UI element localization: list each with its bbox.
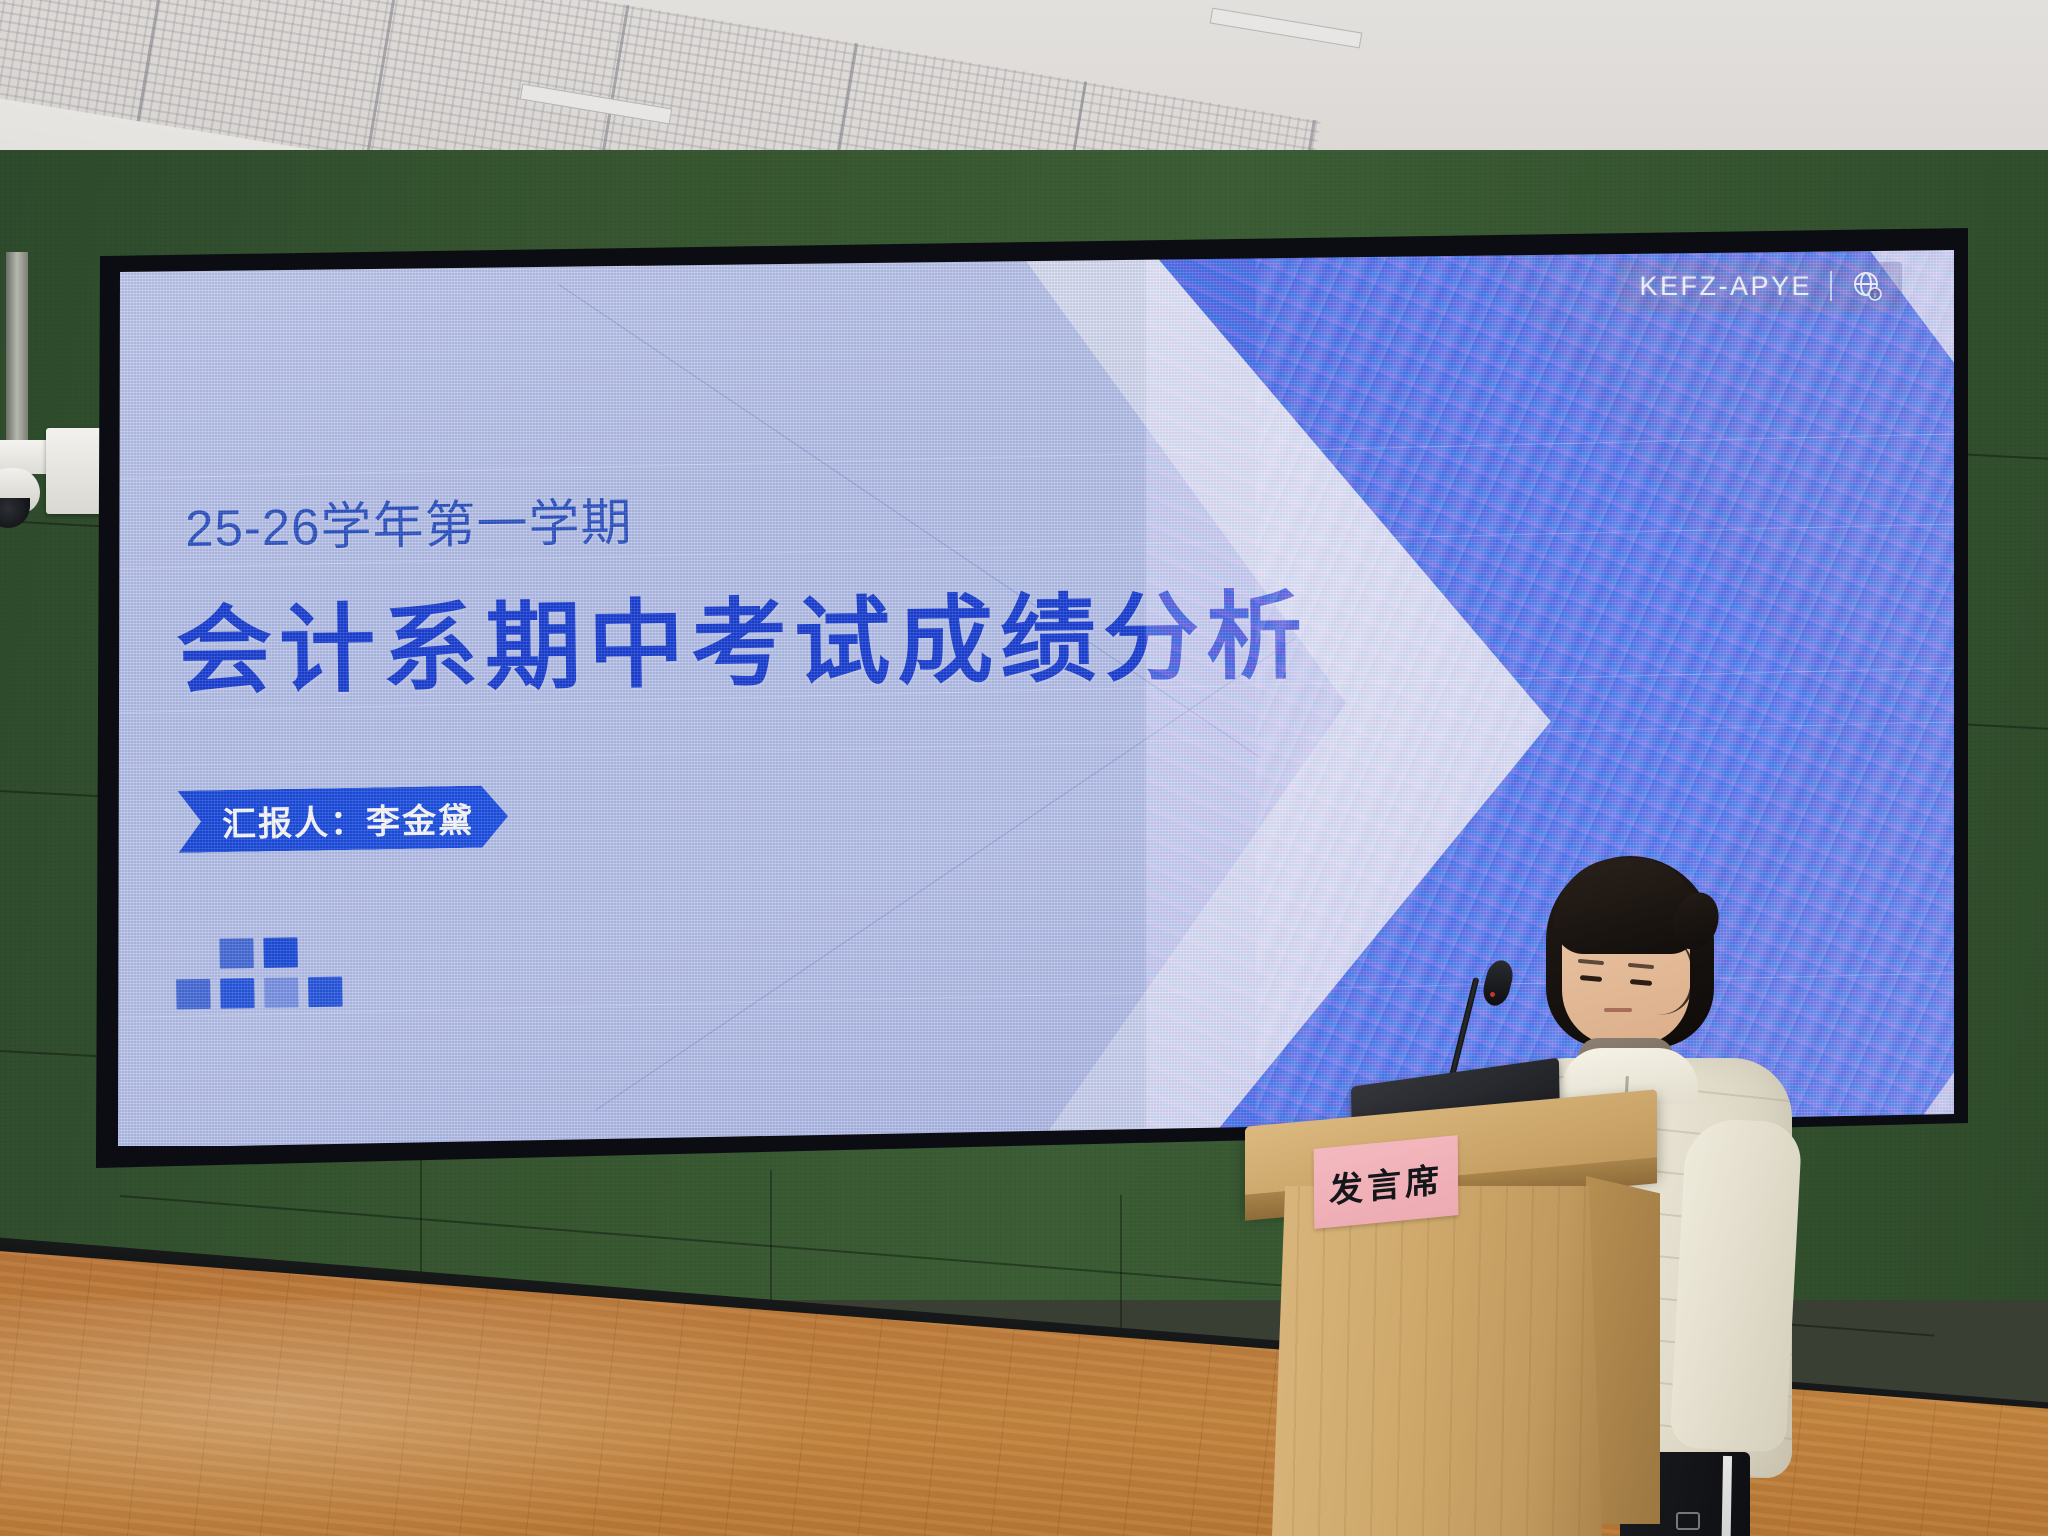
svg-text:i: i (1874, 290, 1876, 300)
decor-square (220, 978, 255, 1009)
brand-logo-icon (1676, 1512, 1700, 1530)
presentation-room-scene: KEFZ-APYE i 25-26学年第一学期 会计系期中考试成绩分析 汇报人：… (0, 0, 2048, 1536)
camera-mount-plate (46, 428, 108, 514)
right-arm (1669, 1117, 1802, 1453)
presenter-ribbon: 汇报人：李金黛 (177, 785, 508, 853)
slide-brand-badge: KEFZ-APYE i (1617, 262, 1902, 312)
decor-square (308, 977, 343, 1008)
decor-square (263, 937, 298, 968)
podium-sign: 发言席 (1314, 1135, 1459, 1229)
presenter-ribbon-label: 汇报人：李金黛 (212, 792, 475, 846)
slide-title: 会计系期中考试成绩分析 (175, 558, 1310, 713)
slide-decor-squares (175, 937, 342, 1010)
globe-icon: i (1850, 269, 1884, 303)
microphone-indicator-light (1490, 992, 1495, 997)
podium-front-panel (1272, 1186, 1602, 1536)
slide-subtitle: 25-26学年第一学期 (185, 481, 633, 561)
ceiling-vent (1210, 8, 1363, 49)
mouth (1604, 1008, 1632, 1012)
badge-divider (1830, 271, 1832, 301)
decor-square (219, 938, 254, 969)
pant-side-stripe (1721, 1456, 1732, 1536)
podium-sign-label: 发言席 (1329, 1152, 1443, 1212)
decor-square (176, 979, 211, 1010)
badge-label: KEFZ-APYE (1639, 271, 1812, 302)
decor-square (264, 977, 299, 1008)
